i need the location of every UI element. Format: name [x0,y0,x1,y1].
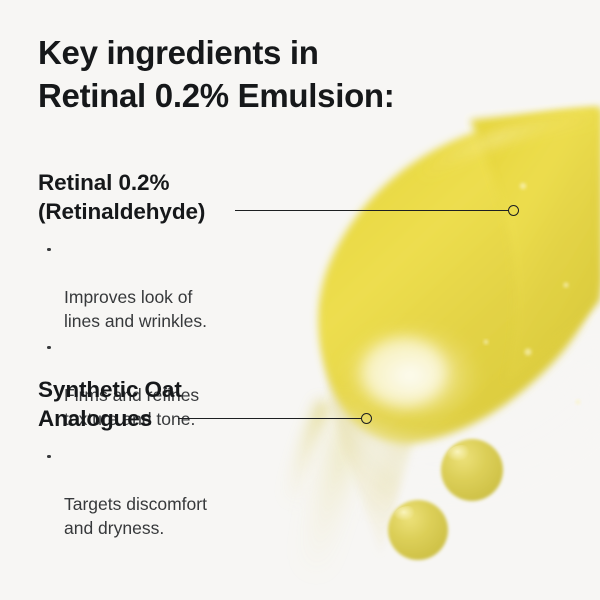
page-title: Key ingredients in Retinal 0.2% Emulsion… [38,32,468,118]
ingredient-name-oat: Synthetic Oat Analogues [38,375,207,434]
leader-dot-retinal [508,205,519,216]
benefit-text: Improves look of lines and wrinkles. [64,287,207,331]
bullet-dot-icon [47,248,51,252]
leader-line-retinal [235,210,509,211]
bullet-dot-icon [47,346,51,350]
list-item: Improves look of lines and wrinkles. [38,239,207,334]
benefit-text: Targets discomfort and dryness. [64,494,207,538]
bullet-dot-icon [47,455,51,459]
ingredient-infographic: Key ingredients in Retinal 0.2% Emulsion… [0,0,600,600]
benefit-list-oat: Targets discomfort and dryness. [38,446,207,541]
ingredient-block-oat: Synthetic Oat Analogues Targets discomfo… [38,375,207,544]
leader-dot-oat [361,413,372,424]
list-item: Targets discomfort and dryness. [38,446,207,541]
leader-line-oat [178,418,362,419]
ingredient-name-retinal: Retinal 0.2% (Retinaldehyde) [38,168,207,227]
